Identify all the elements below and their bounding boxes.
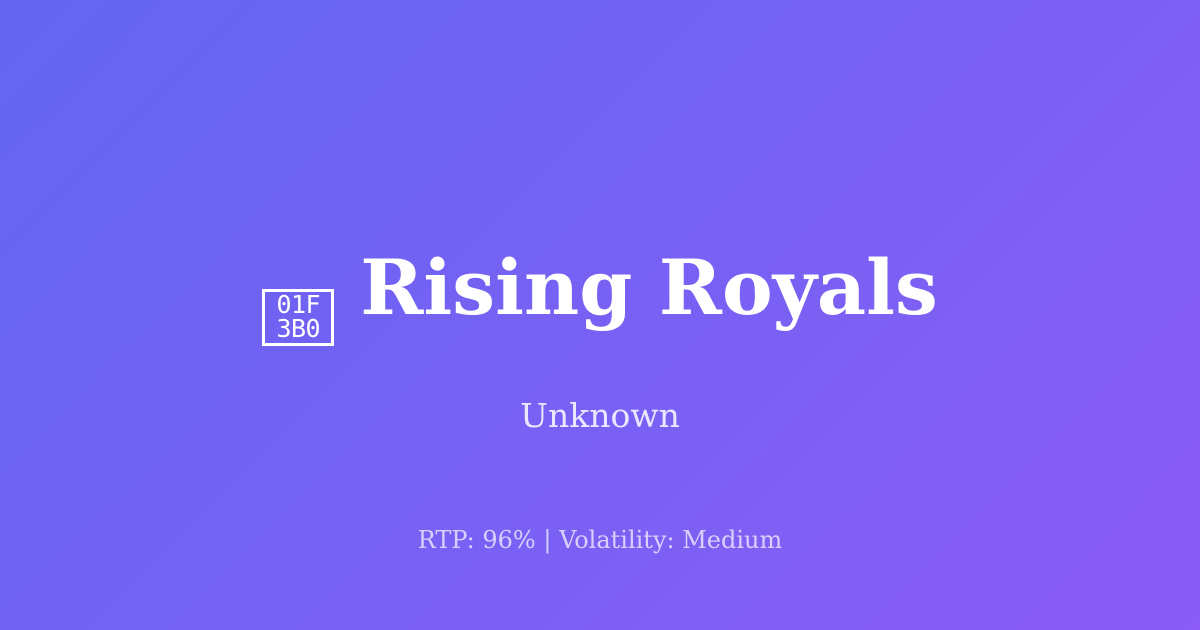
slot-machine-icon: 01F 3B0 (262, 289, 334, 346)
game-stats: RTP: 96% | Volatility: Medium (0, 528, 1200, 552)
provider-name: Unknown (520, 399, 680, 432)
tofu-codepoint-bottom: 3B0 (276, 317, 320, 341)
og-preview-card: 01F 3B0 Rising Royals Unknown RTP: 96% |… (0, 0, 1200, 630)
title-row: 01F 3B0 Rising Royals (262, 250, 937, 347)
page-title: Rising Royals (360, 250, 937, 326)
